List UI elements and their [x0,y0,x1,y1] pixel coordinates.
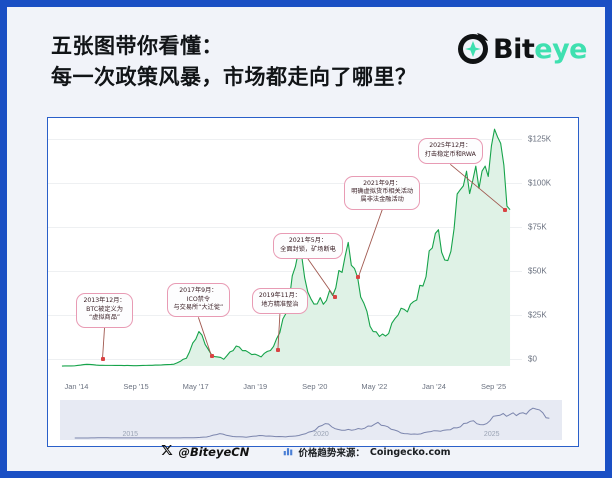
x-axis-tick: Sep '25 [481,382,506,391]
navigator-tick: 2020 [313,431,329,438]
annotation-2021-09-line-1: 2021年9月： [351,180,413,188]
annotation-2021-09-marker [356,275,360,279]
x-axis-tick: Sep '20 [302,382,327,391]
x-axis-tick: Jan '24 [422,382,446,391]
annotation-2025-12-marker [503,208,507,212]
x-twitter-icon [161,444,173,460]
annotation-2017-09: 2017年9月：ICO禁令与交易所“大迁徙” [167,283,231,317]
x-axis-tick: May '22 [361,382,387,391]
annotation-2017-09-line-1: 2017年9月： [174,287,224,295]
footer-social[interactable]: @BiteyeCN [161,444,249,460]
annotation-2021-09: 2021年9月：明确虚拟货币相关活动属非法金融活动 [344,176,420,210]
x-axis-labels: Jan '14Sep '15May '17Jan '19Sep '20May '… [48,382,522,396]
poster-root: 五张图带你看懂： 每一次政策风暴，市场都走向了哪里？ Biteye [0,0,612,478]
annotation-2025-12-line-1: 2025年12月： [425,142,476,150]
footer-handle: @BiteyeCN [178,445,249,459]
biteye-logo-icon [455,31,491,67]
annotation-2013-12-marker [101,357,105,361]
poster-canvas: 五张图带你看懂： 每一次政策风暴，市场都走向了哪里？ Biteye [7,7,605,471]
x-axis-tick: Sep '15 [123,382,148,391]
y-axis-tick: $100K [528,178,551,187]
y-axis-tick: $125K [528,134,551,143]
annotation-2021-09-connector [358,210,382,277]
page-title: 五张图带你看懂： 每一次政策风暴，市场都走向了哪里？ [51,31,417,93]
navigator-tick: 2015 [122,431,138,438]
annotation-2017-09-connector [198,317,211,356]
annotation-2025-12: 2025年12月：打击稳定币和RWA [418,138,483,164]
y-axis-tick: $75K [528,222,547,231]
logo-text: Biteye [493,34,587,65]
footer: @BiteyeCN 价格趋势来源： Coingecko.com [7,439,605,465]
y-axis-tick: $25K [528,310,547,319]
annotation-2019-11-connector [278,314,280,350]
annotation-2021-05-marker [333,295,337,299]
x-axis-tick: Jan '14 [64,382,88,391]
bar-chart-icon [283,443,293,461]
annotation-2019-11-line-2: 地方精准整治 [259,301,301,309]
footer-source-label: 价格趋势来源： [298,445,365,459]
y-axis-tick: $50K [528,266,547,275]
annotation-2017-09-marker [210,354,214,358]
y-axis-labels: $125K$100K$75K$50K$25K$0 [522,118,574,374]
annotation-2013-12-line-2: BTC被定义为 [83,306,125,314]
annotation-2021-05-line-2: 全面封锁，矿场断电 [280,246,336,254]
x-axis-tick: Jan '19 [243,382,267,391]
header: 五张图带你看懂： 每一次政策风暴，市场都走向了哪里？ Biteye [7,7,605,110]
chart-navigator[interactable]: 201520202025 [60,400,562,440]
annotation-2017-09-line-2: ICO禁令 [174,296,224,304]
brand-logo: Biteye [455,29,587,69]
y-axis-tick: $0 [528,354,537,363]
annotation-2019-11-marker [276,348,280,352]
annotation-2021-05-connector [308,259,335,297]
annotation-2025-12-connector [450,164,505,210]
footer-source: 价格趋势来源： Coingecko.com [283,443,450,461]
chart-panel: 2013年12月：BTC被定义为“虚拟商品”2017年9月：ICO禁令与交易所“… [47,117,579,447]
logo-text-bit: Bit [493,34,534,65]
navigator-tick: 2025 [484,431,500,438]
annotation-2019-11-line-1: 2019年11月： [259,292,301,300]
annotation-2013-12-line-1: 2013年12月： [83,297,125,305]
annotation-2019-11: 2019年11月：地方精准整治 [252,288,308,314]
annotation-2013-12: 2013年12月：BTC被定义为“虚拟商品” [76,293,132,327]
annotation-2017-09-line-3: 与交易所“大迁徙” [174,304,224,312]
annotation-2013-12-connector [103,328,105,359]
title-line-1: 五张图带你看懂： [51,34,223,58]
annotation-2013-12-line-3: “虚拟商品” [83,314,125,322]
chart-plot-area: 2013年12月：BTC被定义为“虚拟商品”2017年9月：ICO禁令与交易所“… [48,118,522,374]
footer-source-value: Coingecko.com [370,447,451,458]
annotation-2021-05-line-1: 2021年5月： [280,237,336,245]
logo-text-eye: eye [534,34,587,65]
x-axis-tick: May '17 [183,382,209,391]
annotation-2025-12-line-2: 打击稳定币和RWA [425,151,476,159]
annotation-2021-05: 2021年5月：全面封锁，矿场断电 [273,233,343,259]
title-line-2: 每一次政策风暴，市场都走向了哪里？ [51,62,417,93]
annotation-2021-09-line-3: 属非法金融活动 [351,196,413,204]
